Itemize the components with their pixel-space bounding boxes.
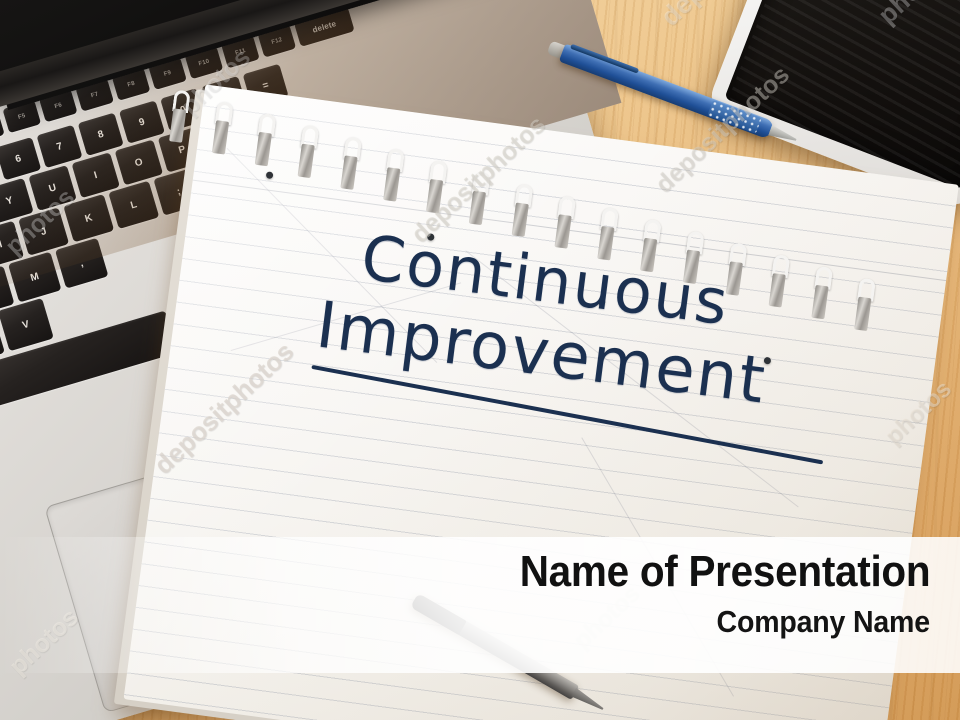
company-name[interactable]: Company Name	[717, 606, 930, 639]
presentation-title[interactable]: Name of Presentation	[519, 549, 930, 595]
title-text-block: Name of Presentation Company Name	[0, 537, 960, 673]
presentation-slide: F4 F5 F6 F7 F8 F9 F10 F11 F12 delete 5 6…	[0, 0, 960, 720]
